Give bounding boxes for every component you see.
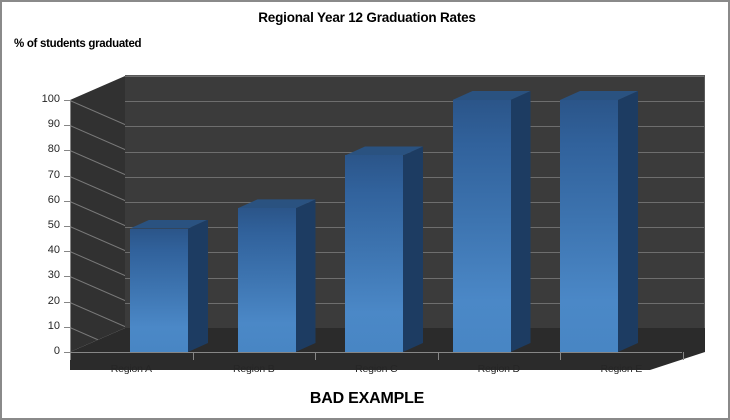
gridline (125, 278, 705, 279)
chart-container: Regional Year 12 Graduation Rates % of s… (0, 0, 730, 420)
gridline (125, 126, 705, 127)
y-axis-tick-label: 80 (8, 143, 60, 155)
y-axis-tick (64, 251, 70, 252)
depth-line (70, 276, 126, 301)
x-axis-tick (438, 352, 439, 360)
x-axis-category-label: Region B (193, 363, 316, 375)
x-axis-category-label: Region D (438, 363, 561, 375)
y-axis-tick-label: 30 (8, 269, 60, 281)
x-axis-tick (70, 352, 71, 360)
gridline (125, 202, 705, 203)
y-axis-tick (64, 150, 70, 151)
y-axis-tick-label: 70 (8, 169, 60, 181)
x-axis-category-label: Region C (315, 363, 438, 375)
y-axis-tick-label: 20 (8, 295, 60, 307)
y-axis-tick (64, 176, 70, 177)
plot-area: 0102030405060708090100 Region ARegion BR… (2, 2, 730, 420)
y-axis-tick-label: 50 (8, 219, 60, 231)
y-axis-tick (64, 226, 70, 227)
x-axis-tick (560, 352, 561, 360)
depth-line (70, 100, 126, 125)
gridline (125, 101, 705, 102)
depth-line (70, 302, 126, 327)
x-axis-line (70, 352, 682, 353)
gridline (125, 177, 705, 178)
y-axis-tick (64, 201, 70, 202)
y-axis-tick (64, 327, 70, 328)
y-axis-tick-label: 10 (8, 320, 60, 332)
depth-line (70, 150, 126, 175)
y-axis-tick-label: 60 (8, 194, 60, 206)
back-wall-top-edge (125, 75, 705, 76)
x-axis-title: BAD EXAMPLE (2, 390, 730, 408)
depth-line (70, 125, 126, 150)
gridline (125, 76, 705, 77)
x-axis-tick (683, 352, 684, 360)
x-axis-category-label: Region E (560, 363, 683, 375)
gridline (125, 152, 705, 153)
depth-line (70, 226, 126, 251)
y-axis-tick (64, 100, 70, 101)
gridline (125, 252, 705, 253)
y-axis-tick (64, 302, 70, 303)
y-axis-tick (64, 276, 70, 277)
gridline (125, 227, 705, 228)
left-wall (70, 76, 125, 352)
y-axis-tick-label: 100 (8, 93, 60, 105)
x-axis-category-label: Region A (70, 363, 193, 375)
back-wall-right-edge (704, 76, 705, 328)
gridline (125, 303, 705, 304)
x-axis-tick (315, 352, 316, 360)
y-axis-tick-label: 40 (8, 244, 60, 256)
back-wall (125, 76, 705, 328)
depth-line (70, 251, 126, 276)
y-axis-tick (64, 125, 70, 126)
y-axis-tick-label: 90 (8, 118, 60, 130)
y-axis-line (70, 100, 71, 352)
depth-line (70, 201, 126, 226)
x-axis-tick (193, 352, 194, 360)
y-axis-tick-label: 0 (8, 345, 60, 357)
depth-line (70, 176, 126, 201)
